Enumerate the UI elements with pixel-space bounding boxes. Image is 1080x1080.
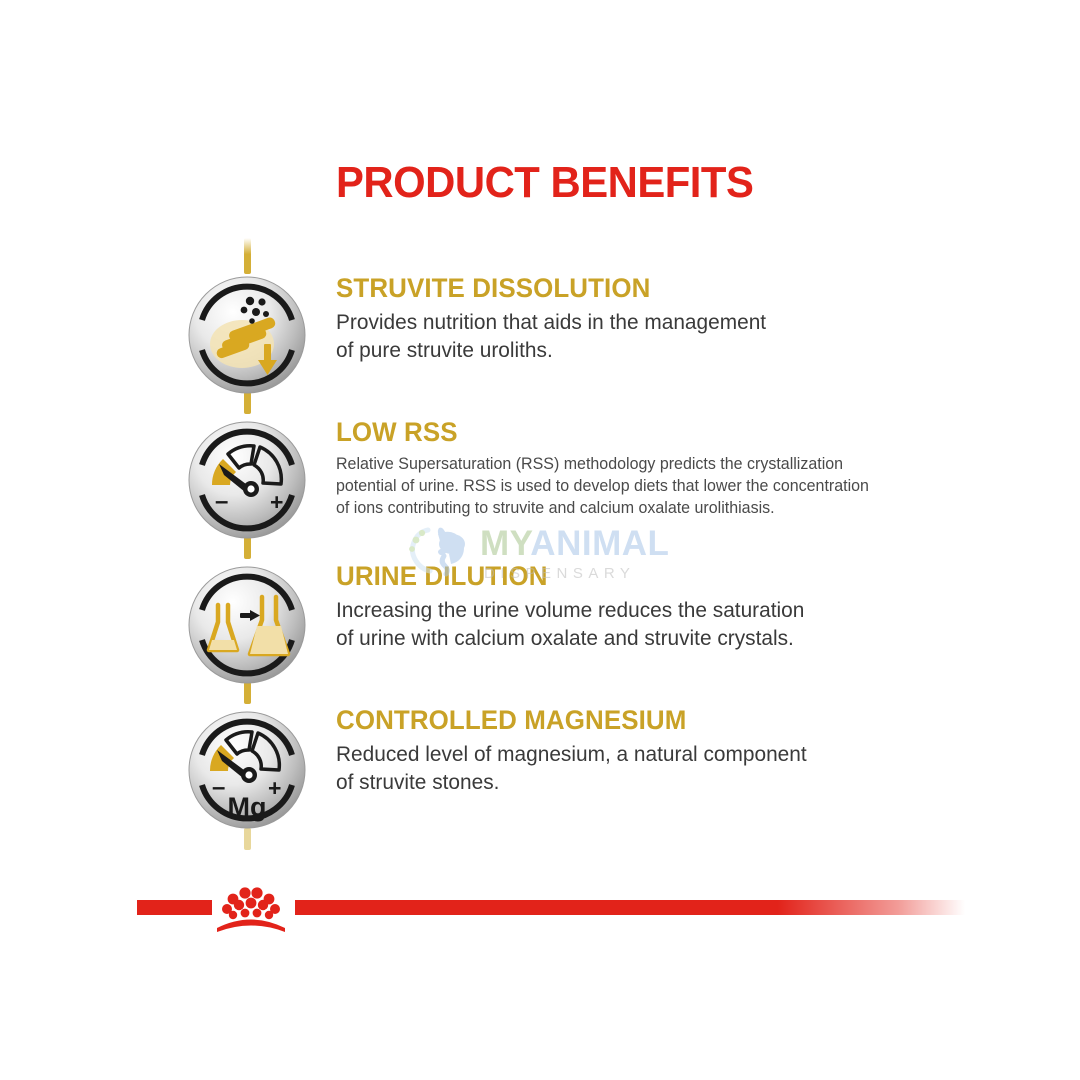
benefit-body: Relative Supersaturation (RSS) methodolo… bbox=[336, 454, 899, 520]
flasks-dilution-icon bbox=[188, 566, 306, 684]
benefit-text-urine-dilution: URINE DILUTION Increasing the urine volu… bbox=[336, 562, 916, 652]
footer-bar-left bbox=[137, 900, 212, 915]
benefit-heading: URINE DILUTION bbox=[336, 562, 893, 590]
benefit-heading: STRUVITE DISSOLUTION bbox=[336, 274, 893, 302]
benefit-body: Provides nutrition that aids in the mana… bbox=[336, 309, 899, 364]
benefit-text-controlled-magnesium: CONTROLLED MAGNESIUM Reduced level of ma… bbox=[336, 706, 916, 796]
footer-bar-right bbox=[295, 900, 965, 915]
gauge-low-icon: – + bbox=[188, 421, 306, 539]
footer bbox=[0, 884, 1080, 934]
benefit-body: Increasing the urine volume reduces the … bbox=[336, 597, 899, 652]
benefit-heading: LOW RSS bbox=[336, 418, 893, 446]
benefit-heading: CONTROLLED MAGNESIUM bbox=[336, 706, 893, 734]
magnesium-symbol-label: Mg bbox=[228, 792, 267, 822]
benefit-body: Reduced level of magnesium, a natural co… bbox=[336, 741, 899, 796]
benefit-text-struvite-dissolution: STRUVITE DISSOLUTION Provides nutrition … bbox=[336, 274, 916, 364]
royal-canin-crown-logo bbox=[205, 882, 297, 934]
gauge-magnesium-icon: – + Mg bbox=[188, 711, 306, 829]
svg-text:+: + bbox=[270, 489, 283, 515]
svg-text:+: + bbox=[268, 775, 281, 801]
svg-text:–: – bbox=[215, 488, 228, 515]
svg-text:–: – bbox=[212, 774, 225, 801]
product-benefits-page: PRODUCT BENEFITS bbox=[0, 0, 1080, 1080]
struvite-crystals-dissolving-icon bbox=[188, 276, 306, 394]
benefit-text-low-rss: LOW RSS Relative Supersaturation (RSS) m… bbox=[336, 418, 916, 520]
